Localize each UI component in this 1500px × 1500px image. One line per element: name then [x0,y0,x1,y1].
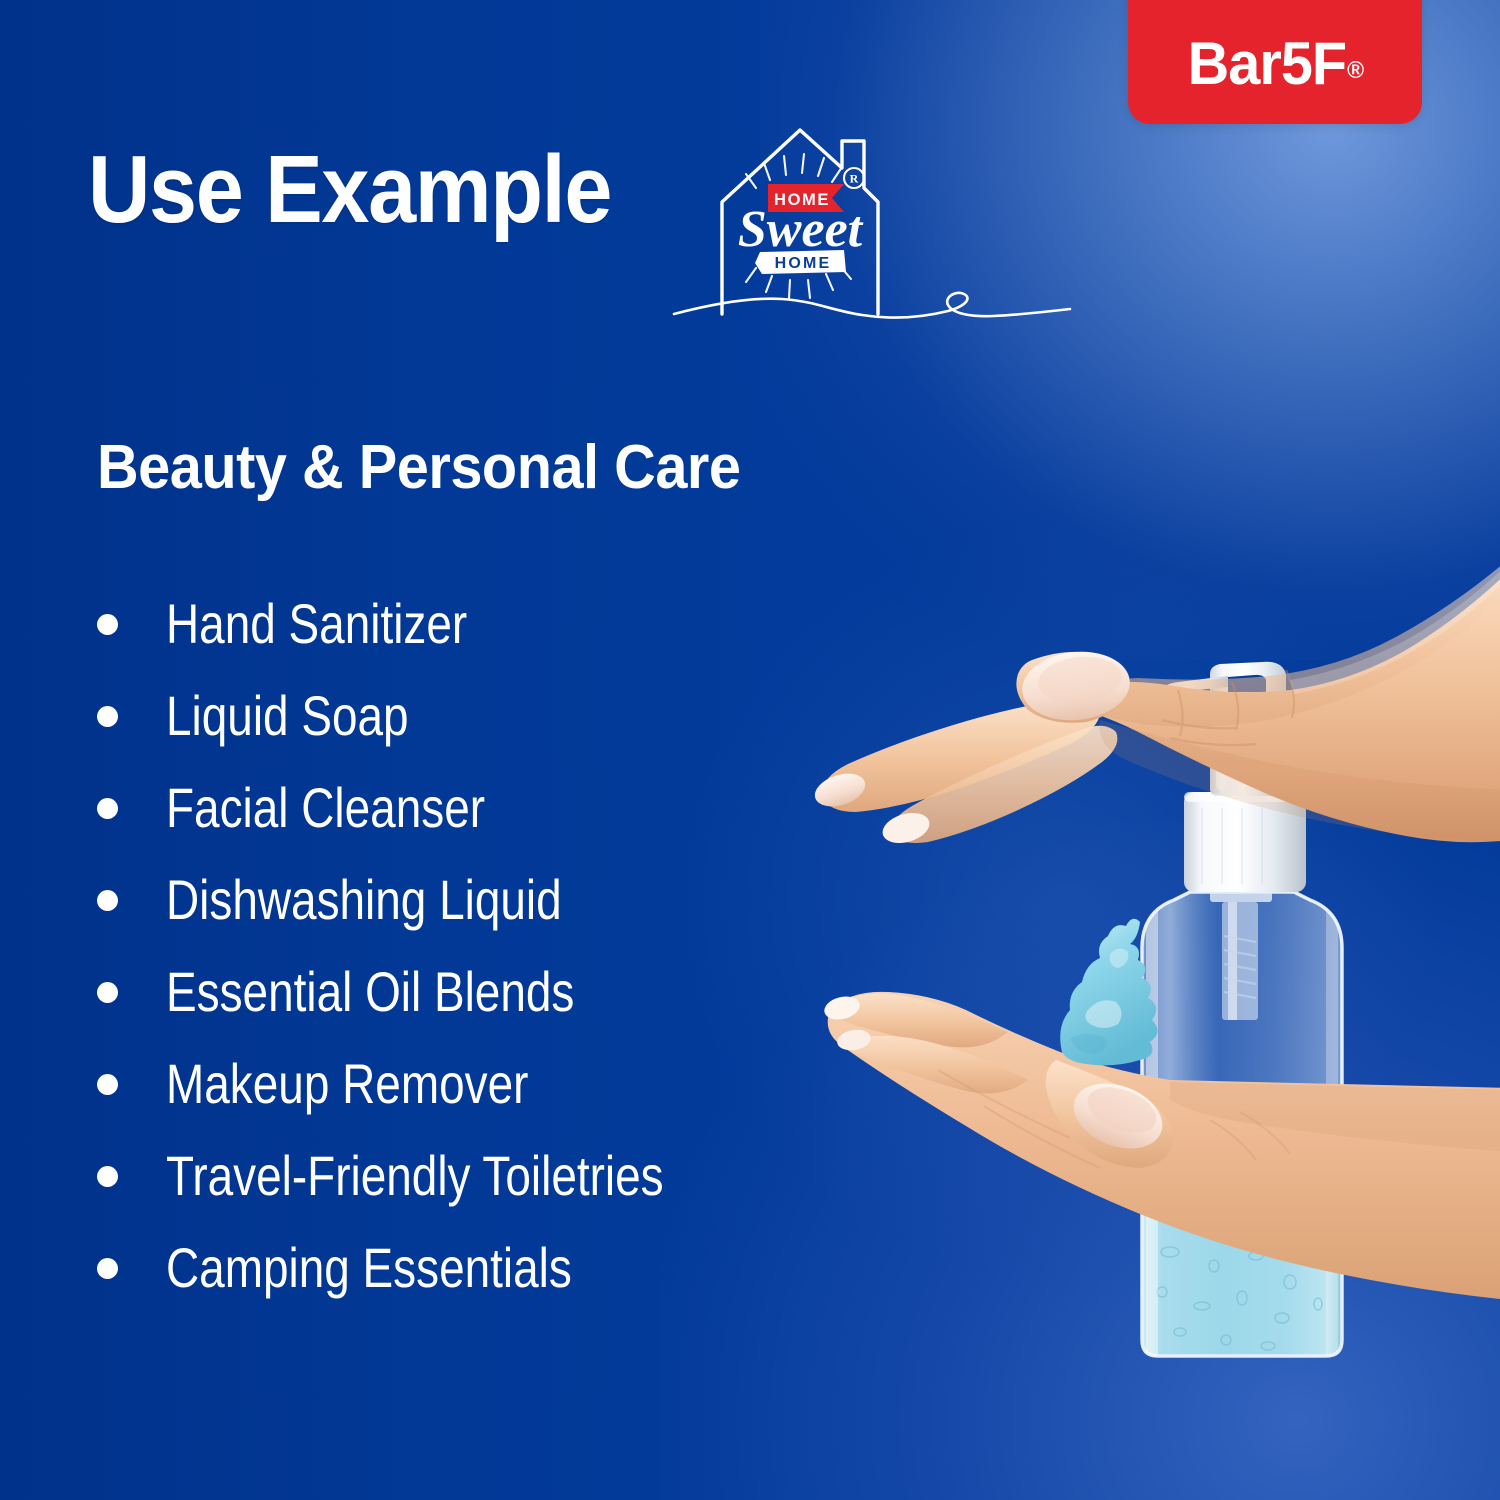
bullet-dot-icon [97,890,118,911]
list-item-label: Travel-Friendly Toiletries [166,1148,664,1204]
page-title: Use Example [88,135,611,245]
brand-name: Bar5F® [1187,29,1362,98]
registered-mark-icon: ® [1347,57,1363,84]
bullet-dot-icon [97,1074,118,1095]
list-item-label: Dishwashing Liquid [166,872,562,928]
list-item-label: Makeup Remover [166,1056,528,1112]
svg-text:R: R [850,172,859,186]
svg-text:HOME: HOME [775,255,832,272]
bullet-dot-icon [97,614,118,635]
section-heading: Beauty & Personal Care [97,432,741,503]
list-item-label: Camping Essentials [166,1240,572,1296]
list-item-label: Hand Sanitizer [166,596,467,652]
bullet-dot-icon [97,706,118,727]
home-sweet-home-logo: R HOME Sweet HOME [672,108,1072,338]
list-item-label: Essential Oil Blends [166,964,574,1020]
logo-registered-mark: R [844,168,864,188]
product-photo [770,540,1500,1440]
bullet-dot-icon [97,798,118,819]
list-item-label: Facial Cleanser [166,780,485,836]
list-item-label: Liquid Soap [166,688,409,744]
bullet-dot-icon [97,1166,118,1187]
bullet-dot-icon [97,982,118,1003]
upper-hand [811,558,1500,848]
brand-name-text: Bar5F [1187,30,1345,97]
brand-badge: Bar5F® [1128,0,1422,124]
logo-home-banner-bottom: HOME [755,250,846,274]
bullet-dot-icon [97,1258,118,1279]
poster-canvas: Bar5F® Use Example [0,0,1500,1500]
logo-sweet-script: Sweet [738,201,864,258]
